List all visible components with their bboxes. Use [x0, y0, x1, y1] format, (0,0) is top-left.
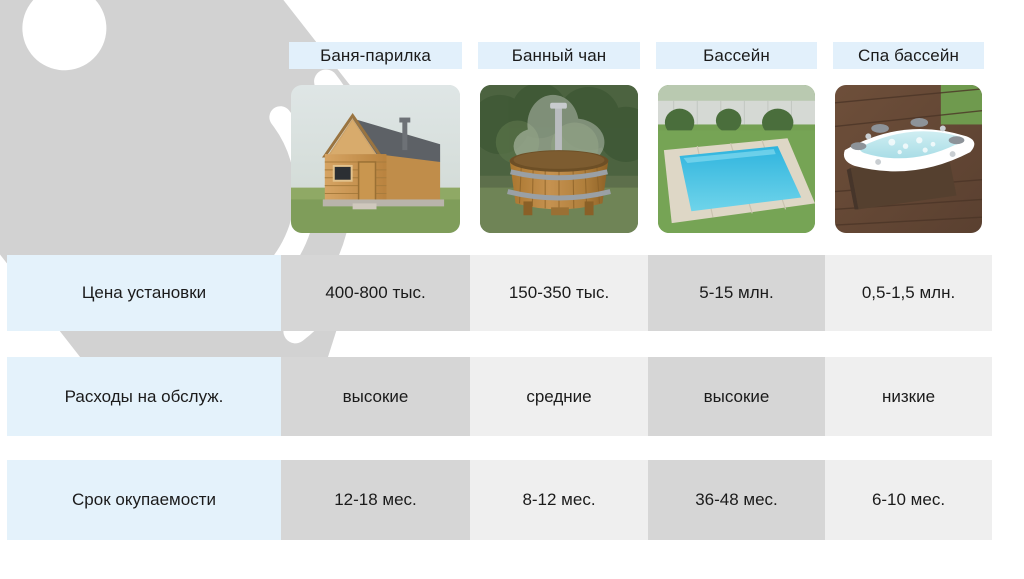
cell-payback-banya: 12-18 мес.: [281, 460, 470, 540]
cell-payback-chan: 8-12 мес.: [470, 460, 648, 540]
row-label-maintenance: Расходы на обслуж.: [7, 357, 281, 436]
cell-maintenance-spa: низкие: [825, 357, 992, 436]
cell-payback-basseyn: 36-48 мес.: [648, 460, 825, 540]
table-row: Срок окупаемости 12-18 мес. 8-12 мес. 36…: [7, 460, 992, 540]
table-row: Цена установки 400-800 тыс. 150-350 тыс.…: [7, 255, 992, 331]
table-row: Расходы на обслуж. высокие средние высок…: [7, 357, 992, 436]
cell-price-basseyn: 5-15 млн.: [648, 255, 825, 331]
row-label-price: Цена установки: [7, 255, 281, 331]
cell-price-banya: 400-800 тыс.: [281, 255, 470, 331]
cell-payback-spa: 6-10 мес.: [825, 460, 992, 540]
cell-price-spa: 0,5-1,5 млн.: [825, 255, 992, 331]
row-label-payback: Срок окупаемости: [7, 460, 281, 540]
comparison-table-body: Цена установки 400-800 тыс. 150-350 тыс.…: [7, 0, 992, 579]
comparison-table-page: Баня-парилка: [0, 0, 1024, 579]
cell-maintenance-basseyn: высокие: [648, 357, 825, 436]
cell-maintenance-banya: высокие: [281, 357, 470, 436]
cell-maintenance-chan: средние: [470, 357, 648, 436]
cell-price-chan: 150-350 тыс.: [470, 255, 648, 331]
